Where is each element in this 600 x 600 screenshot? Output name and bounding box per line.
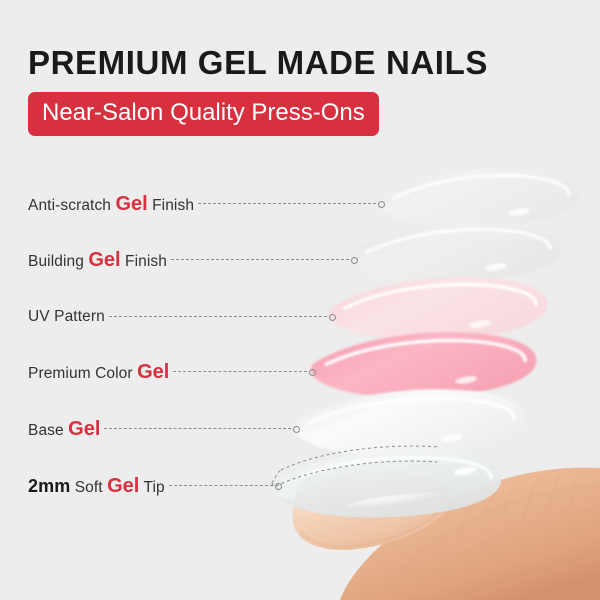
leader-line bbox=[169, 485, 273, 487]
label-segment-red: Gel bbox=[88, 249, 120, 272]
layer-callout-uv-pattern: UV Pattern bbox=[28, 305, 327, 329]
layer-callout-base-gel: Base Gel bbox=[28, 417, 291, 441]
label-segment-normal: Finish bbox=[148, 197, 194, 215]
label-segment-normal: Finish bbox=[121, 253, 167, 271]
layer-shape-uv-pattern bbox=[329, 277, 548, 340]
layer-shape-base-gel bbox=[295, 389, 525, 456]
thickness-callout-dashes bbox=[272, 446, 440, 486]
label-segment-red: Gel bbox=[107, 475, 139, 498]
layer-callout-2mm-soft-gel-tip: 2mm Soft Gel Tip bbox=[28, 474, 273, 498]
layer-callout-label: Building Gel Finish bbox=[28, 249, 167, 272]
leader-line bbox=[104, 428, 291, 430]
leader-line bbox=[198, 203, 376, 205]
leader-end-marker bbox=[309, 369, 316, 376]
leader-line bbox=[171, 259, 349, 261]
layer-shape-soft-gel-tip bbox=[275, 450, 501, 517]
subtitle-badge: Near-Salon Quality Press-Ons bbox=[28, 92, 379, 136]
label-segment-normal: Premium Color bbox=[28, 365, 137, 383]
label-segment-red: Gel bbox=[137, 361, 169, 384]
label-segment-red: Gel bbox=[68, 418, 100, 441]
label-segment-normal: Base bbox=[28, 422, 68, 440]
leader-end-marker bbox=[378, 201, 385, 208]
label-segment-normal: Soft bbox=[70, 479, 107, 497]
layer-callout-building-gel-finish: Building Gel Finish bbox=[28, 248, 349, 272]
layer-shape-anti-scratch bbox=[378, 169, 581, 227]
layer-callout-label: UV Pattern bbox=[28, 308, 105, 326]
layer-callout-premium-color-gel: Premium Color Gel bbox=[28, 360, 307, 384]
leader-end-marker bbox=[351, 257, 358, 264]
leader-end-marker bbox=[275, 483, 282, 490]
leader-line bbox=[173, 371, 307, 373]
layer-callout-label: Base Gel bbox=[28, 418, 100, 441]
leader-end-marker bbox=[329, 314, 336, 321]
label-segment-normal: Tip bbox=[139, 479, 164, 497]
leader-end-marker bbox=[293, 426, 300, 433]
layer-shape-premium-color-gel bbox=[311, 332, 536, 397]
label-segment-normal: Building bbox=[28, 253, 88, 271]
label-segment-red: Gel bbox=[115, 193, 147, 216]
layer-shape-building-gel bbox=[351, 222, 562, 282]
label-segment-normal: Anti-scratch bbox=[28, 197, 115, 215]
layer-callout-label: 2mm Soft Gel Tip bbox=[28, 475, 165, 498]
layer-callout-label: Anti-scratch Gel Finish bbox=[28, 193, 194, 216]
label-segment-boldblack: 2mm bbox=[28, 476, 70, 497]
label-segment-normal: UV Pattern bbox=[28, 308, 105, 326]
header-block: PREMIUM GEL MADE NAILS Near-Salon Qualit… bbox=[28, 46, 488, 136]
layer-callout-anti-scratch-gel-finish: Anti-scratch Gel Finish bbox=[28, 192, 376, 216]
finger-illustration bbox=[293, 468, 600, 600]
leader-line bbox=[109, 316, 327, 318]
layer-callout-label: Premium Color Gel bbox=[28, 361, 169, 384]
page-title: PREMIUM GEL MADE NAILS bbox=[28, 46, 488, 79]
product-infographic: PREMIUM GEL MADE NAILS Near-Salon Qualit… bbox=[0, 0, 600, 600]
